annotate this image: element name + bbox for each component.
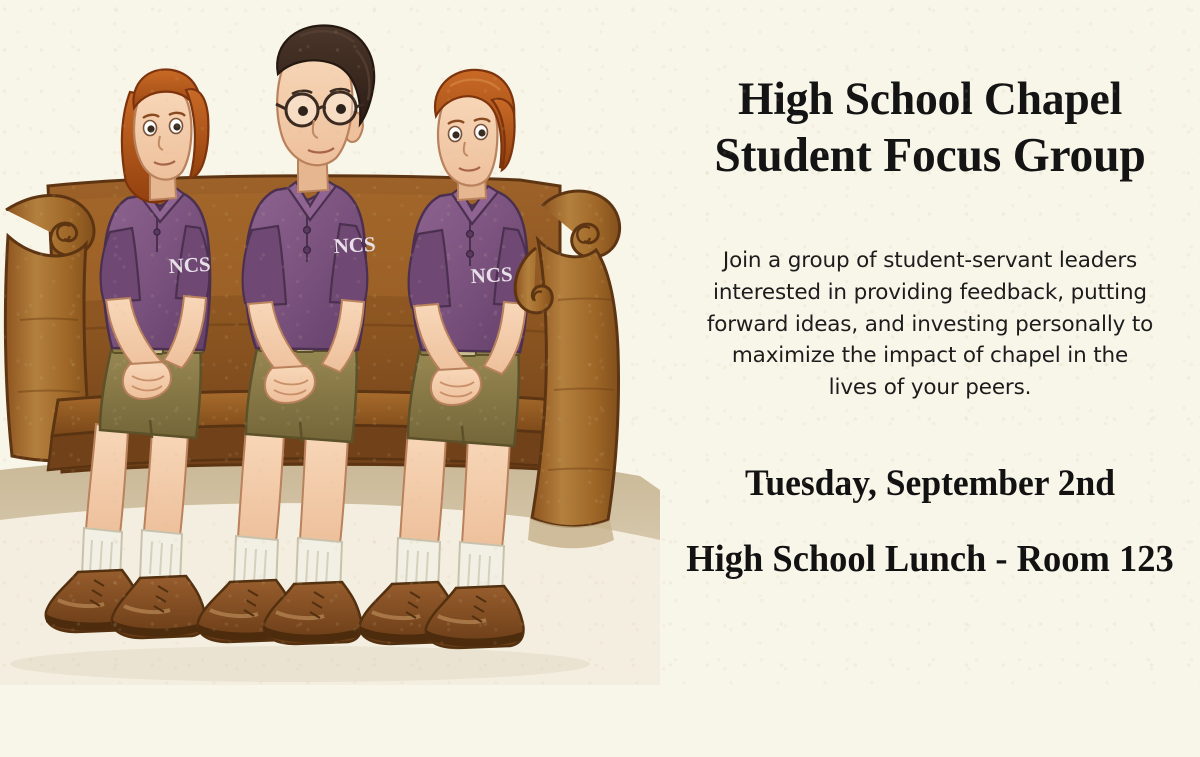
poster-body-copy: Join a group of student-servant leaders … — [660, 245, 1200, 403]
poster-headline: High School Chapel Student Focus Group — [668, 72, 1192, 183]
shirt-logo-right: NCS — [470, 262, 513, 288]
event-location: High School Lunch - Room 123 — [671, 540, 1189, 578]
shirt-logo-left: NCS — [168, 252, 211, 278]
headline-line-1: High School Chapel — [674, 72, 1186, 127]
event-details: Tuesday, September 2nd High School Lunch… — [660, 465, 1200, 578]
pew-illustration: NCS — [0, 0, 660, 685]
event-date: Tuesday, September 2nd — [671, 465, 1189, 502]
illustration-svg: NCS — [0, 0, 660, 685]
poster-text-panel: High School Chapel Student Focus Group J… — [660, 0, 1200, 757]
shirt-logo-center: NCS — [333, 232, 376, 258]
headline-line-2: Student Focus Group — [674, 127, 1186, 184]
event-poster: NCS — [0, 0, 1200, 685]
